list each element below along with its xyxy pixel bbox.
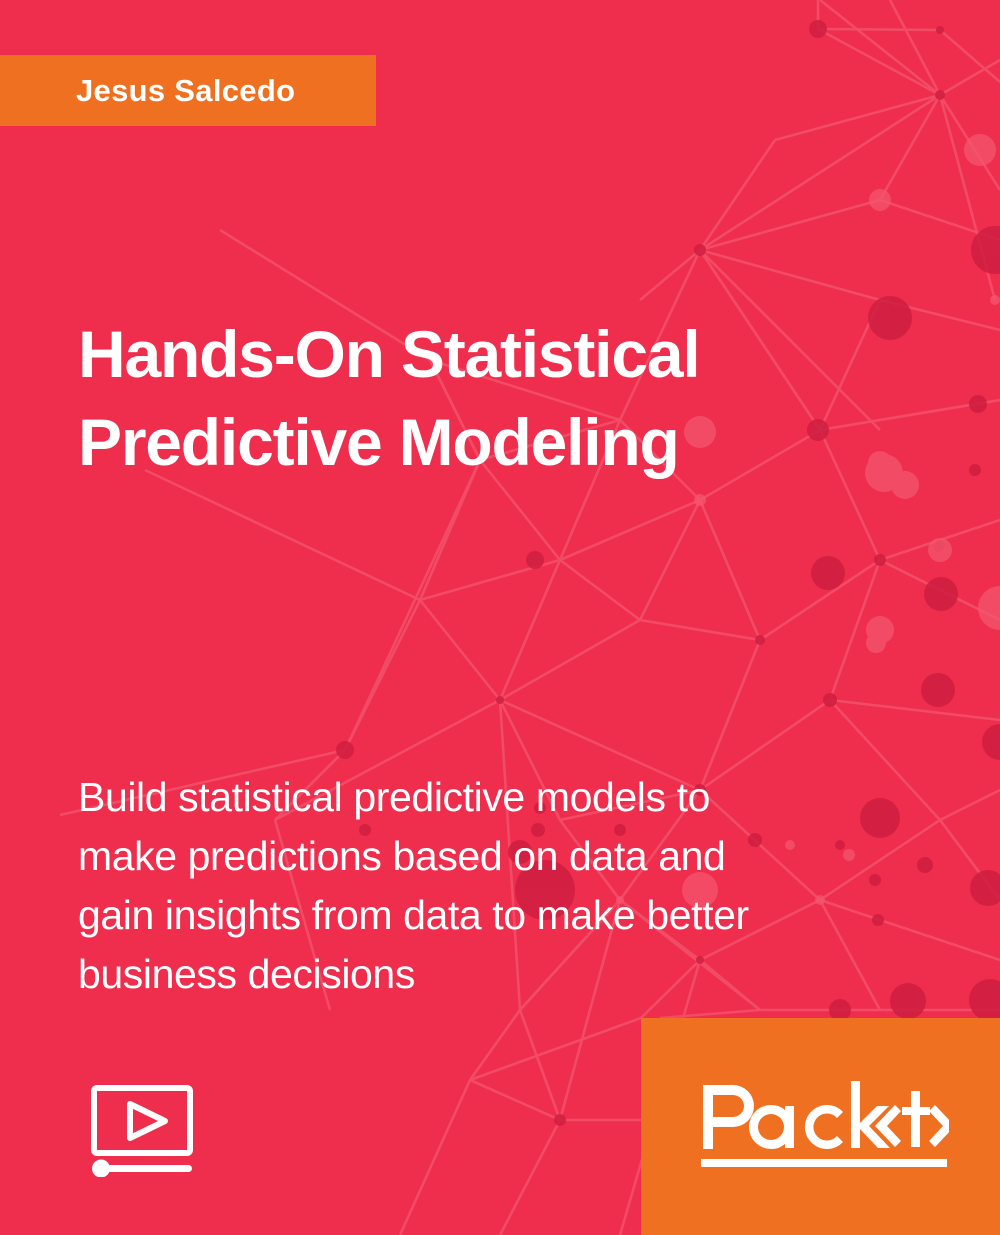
subtitle-line-1: Build statistical predictive models to [78, 768, 898, 827]
book-title: Hands-On Statistical Predictive Modeling [78, 310, 878, 486]
packt-logo [699, 1081, 949, 1171]
book-subtitle: Build statistical predictive models to m… [78, 768, 898, 1004]
video-screen-outline [94, 1088, 190, 1153]
packt-letter-t [902, 1091, 930, 1147]
packt-letter-k [851, 1081, 890, 1148]
video-play-icon [90, 1085, 194, 1177]
play-triangle-icon [130, 1104, 165, 1138]
packt-underline-rule [701, 1159, 947, 1167]
subtitle-line-2: make predictions based on data and [78, 827, 898, 886]
subtitle-line-3: gain insights from data to make better [78, 886, 898, 945]
packt-letter-p [703, 1085, 754, 1149]
packt-letter-c [805, 1105, 843, 1149]
packt-right-angle-bracket-icon [929, 1105, 949, 1147]
video-scrubber-handle [92, 1160, 110, 1178]
video-timeline-bar [102, 1165, 192, 1172]
subtitle-line-4: business decisions [78, 945, 898, 1004]
author-banner: Jesus Salcedo [0, 55, 376, 126]
book-cover: Jesus Salcedo Hands-On Statistical Predi… [0, 0, 1000, 1235]
author-name: Jesus Salcedo [0, 73, 295, 109]
publisher-logo-block [641, 1018, 1000, 1235]
packt-letter-a [749, 1105, 794, 1149]
title-line-2: Predictive Modeling [78, 398, 878, 486]
title-line-1: Hands-On Statistical [78, 310, 878, 398]
